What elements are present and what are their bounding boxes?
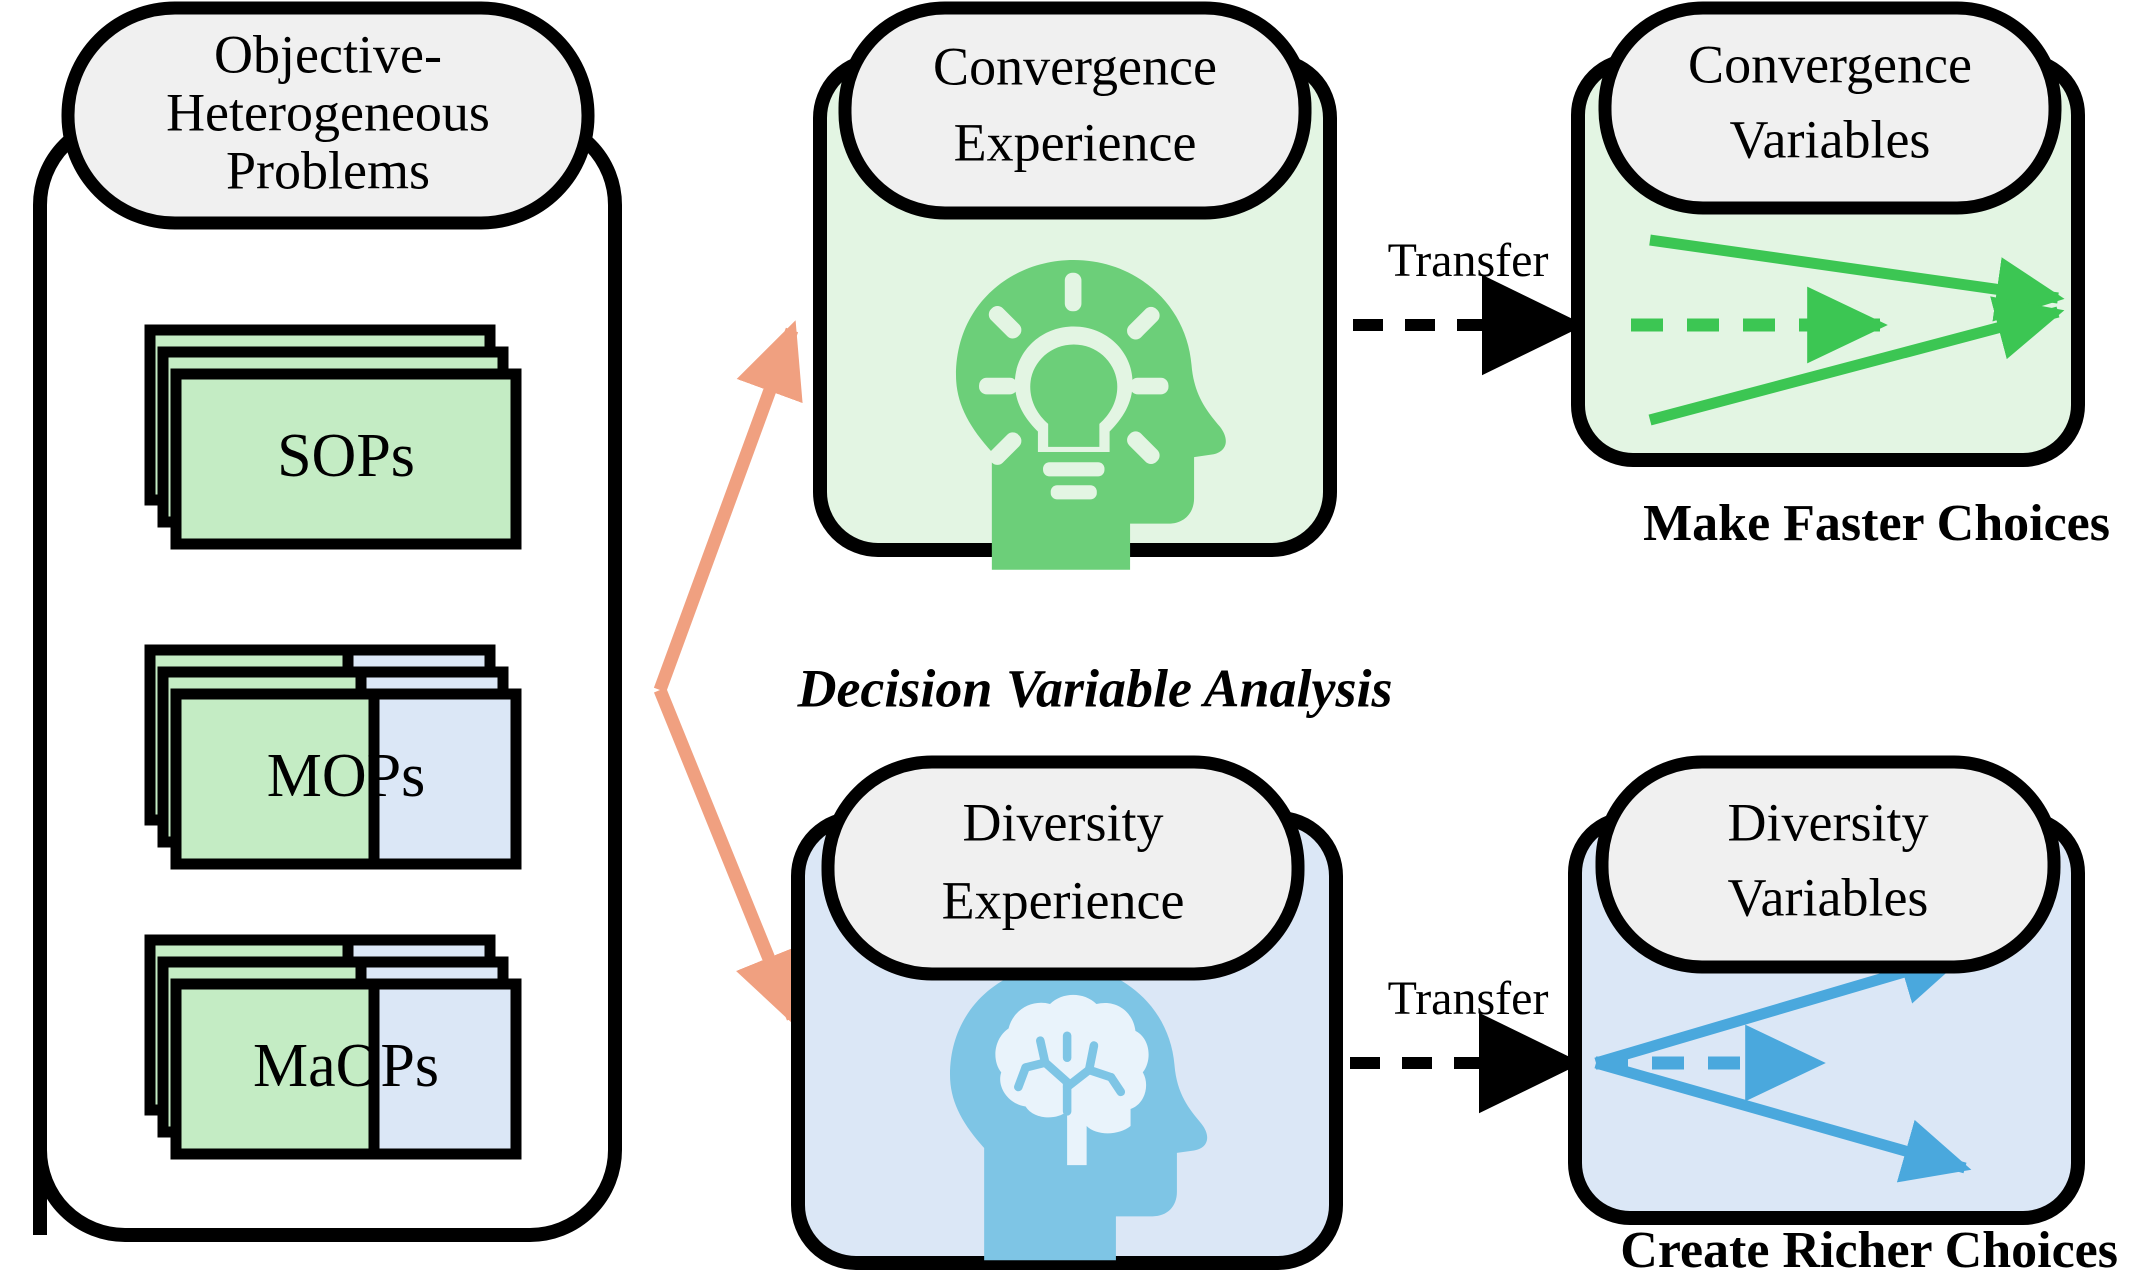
convergence-experience-title-line-2: Experience — [954, 112, 1197, 172]
convergence-variables-title-line-2: Variables — [1730, 109, 1931, 169]
decision-variable-analysis-arrows — [660, 330, 793, 1018]
diversity-experience-title-line-1: Diversity — [963, 792, 1164, 852]
maops-label: MaOPs — [253, 1032, 439, 1100]
convergence-variables-box[interactable]: Convergence Variables — [1578, 8, 2078, 460]
diversity-experience-title-line-2: Experience — [942, 870, 1185, 930]
diversity-variables-title-line-1: Diversity — [1728, 792, 1929, 852]
fork-arrow-down — [660, 690, 793, 1018]
diversity-variables-box[interactable]: Diversity Variables — [1575, 762, 2078, 1218]
problem-stack-maops[interactable]: MaOPs — [150, 940, 516, 1154]
diversity-experience-box[interactable]: Diversity Experience — [798, 762, 1336, 1263]
outcome-create-richer-choices: Create Richer Choices — [1620, 1222, 2118, 1273]
sops-label: SOPs — [277, 422, 415, 490]
problems-title-line-1: Objective- — [214, 24, 442, 84]
transfer-top: Transfer — [1353, 234, 1573, 325]
diversity-variables-title-line-2: Variables — [1728, 867, 1929, 927]
convergence-experience-title-line-1: Convergence — [933, 36, 1217, 96]
decision-variable-analysis-label: Decision Variable Analysis — [796, 658, 1392, 718]
transfer-top-label: Transfer — [1388, 234, 1549, 287]
convergence-experience-box[interactable]: Convergence Experience — [820, 8, 1330, 570]
outcome-make-faster-choices: Make Faster Choices — [1643, 495, 2110, 552]
problem-stack-sops[interactable]: SOPs — [150, 330, 516, 544]
decision-variable-analysis-diagram: Objective- Heterogeneous Problems SOPs M… — [0, 0, 2135, 1273]
mops-label: MOPs — [267, 742, 426, 810]
problems-title-pill: Objective- Heterogeneous Problems — [68, 8, 588, 223]
fork-arrow-up — [660, 330, 792, 690]
problem-stack-mops[interactable]: MOPs — [150, 650, 516, 864]
convergence-variables-title-line-1: Convergence — [1688, 34, 1972, 94]
transfer-bottom-label: Transfer — [1388, 972, 1549, 1025]
diagram-canvas: Objective- Heterogeneous Problems SOPs M… — [0, 0, 2135, 1273]
transfer-bottom: Transfer — [1350, 972, 1570, 1063]
problems-title-line-3: Problems — [226, 140, 430, 200]
problems-title-line-2: Heterogeneous — [166, 82, 490, 142]
